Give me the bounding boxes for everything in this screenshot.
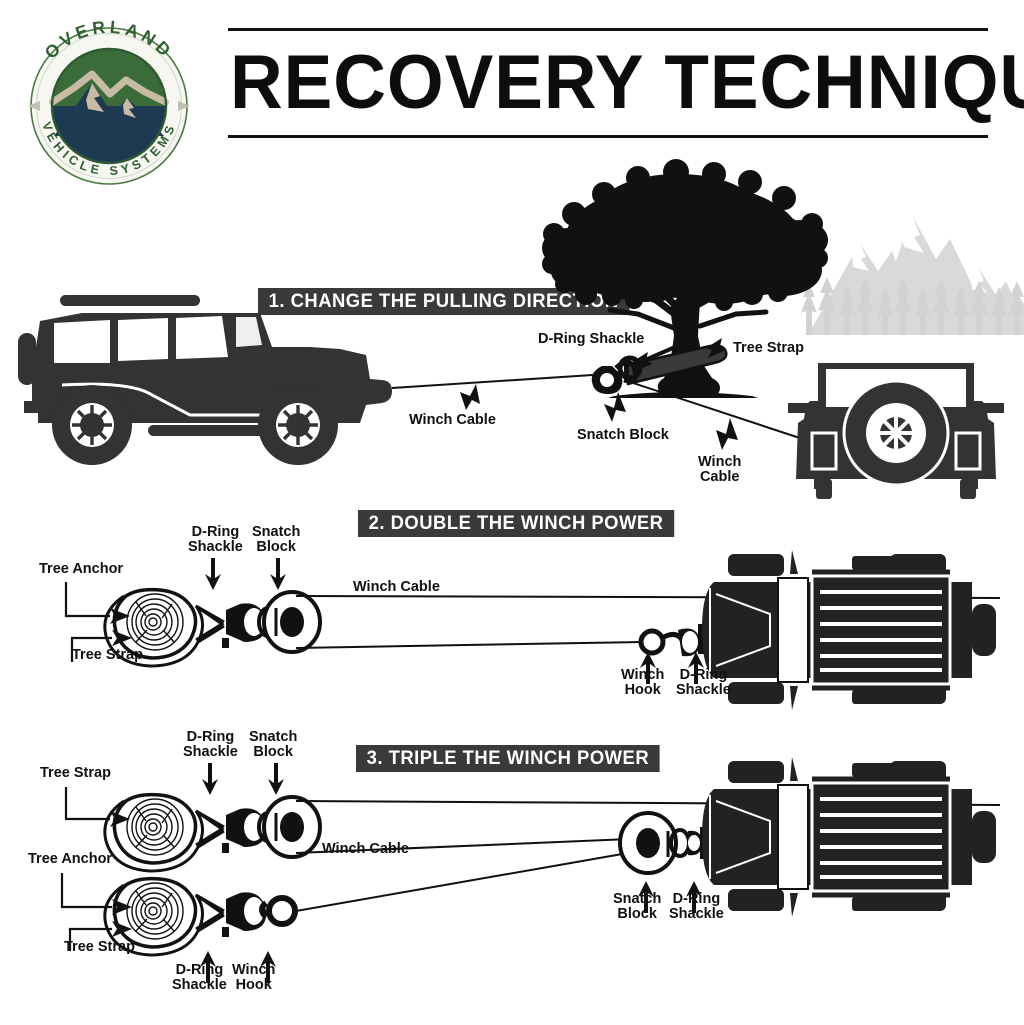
label-winch-hook-s2: Winch Hook [621,668,664,698]
label-winch-cable-s2: Winch Cable [353,580,440,595]
infographic-page: OVERLAND VEHICLE SYSTEMS RECOVERY TECHNI… [0,0,1024,1024]
tree-anchor-lower-s3 [114,879,195,947]
label-snatch-block-right-s3: Snatch Block [613,892,661,922]
label-tree-anchor-s3: Tree Anchor [28,852,112,867]
label-d-ring-shackle-s1: D-Ring Shackle [538,332,644,347]
label-d-ring-shackle-top-s3: D-Ring Shackle [183,730,238,760]
winch-hook-lower-s3 [262,898,295,924]
label-d-ring-shackle-right-s3: D-Ring Shackle [669,892,724,922]
title-block: RECOVERY TECHNIQUES [228,28,988,138]
title-rule-top [228,28,988,31]
label-winch-hook-s3: Winch Hook [232,963,275,993]
label-winch-cable-s3: Winch Cable [322,842,409,857]
snatch-block-upper-s3 [264,797,320,857]
label-winch-cable-right-s1: Winch Cable [698,455,741,485]
page-title: RECOVERY TECHNIQUES [230,32,958,134]
winch-cable-low-s3 [296,853,628,911]
winch-hook-s2 [641,631,682,653]
label-snatch-block-top-s3: Snatch Block [249,730,297,760]
winch-cable-lower-s2 [296,642,640,648]
label-tree-strap-s1: Tree Strap [733,341,804,356]
label-d-ring-shackle-bottom-s3: D-Ring Shackle [172,963,227,993]
label-tree-strap-bottom-s3: Tree Strap [64,940,135,955]
jeep-top-view-s2 [694,548,1004,713]
label-tree-strap-top-s3: Tree Strap [40,766,111,781]
label-d-ring-shackle-s2: D-Ring Shackle [188,525,243,555]
label-d-ring-shackle-vehicle-s2: D-Ring Shackle [676,668,731,698]
snatch-block-right-s3 [620,813,676,873]
jeep-rear-view [782,345,1012,515]
brand-logo: OVERLAND VEHICLE SYSTEMS [14,14,204,186]
snatch-block-s2 [264,592,320,652]
winch-cable-left [392,374,608,388]
label-snatch-block-s2: Snatch Block [252,525,300,555]
tree-anchor-upper-s3 [114,795,195,863]
label-tree-strap-s2: Tree Strap [72,648,143,663]
jeep-top-view-s3 [694,755,1004,920]
label-winch-cable-left-s1: Winch Cable [409,413,496,428]
d-ring-shackle-lower-s3 [222,892,266,937]
label-snatch-block-s1: Snatch Block [577,428,669,443]
label-tree-anchor-s2: Tree Anchor [39,562,123,577]
title-rule-bottom [228,135,988,138]
